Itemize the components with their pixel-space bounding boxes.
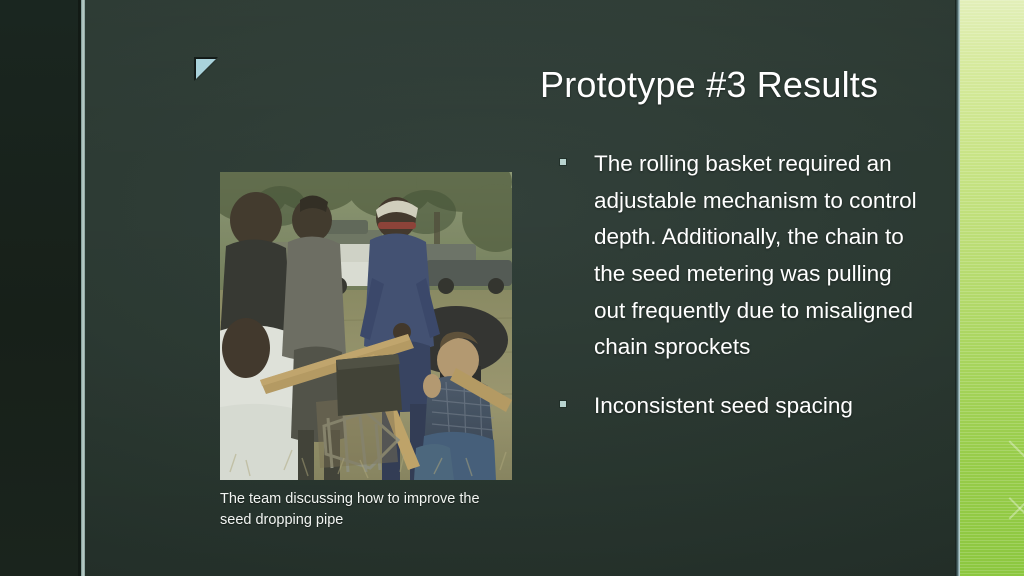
chevron-right-icon <box>970 440 1024 519</box>
slide-photo <box>220 172 512 480</box>
square-bullet-icon <box>560 159 566 165</box>
left-sidebar-band <box>0 0 82 576</box>
triangle-marker-icon <box>196 59 216 79</box>
page-title: Prototype #3 Results <box>540 64 960 105</box>
presentation-slide: Prototype #3 Results <box>0 0 1024 576</box>
square-bullet-icon <box>560 401 566 407</box>
photo-illustration <box>220 172 512 480</box>
bullet-list: The rolling basket required an adjustabl… <box>560 146 920 447</box>
photo-block: The team discussing how to improve the s… <box>220 172 512 531</box>
photo-caption: The team discussing how to improve the s… <box>220 489 512 531</box>
right-accent-strip <box>960 0 1024 576</box>
strip-texture <box>960 0 1024 576</box>
list-item-text: Inconsistent seed spacing <box>594 388 920 425</box>
list-item-text: The rolling basket required an adjustabl… <box>594 146 920 366</box>
list-item: Inconsistent seed spacing <box>560 388 920 425</box>
chevron-right-icon <box>960 497 1024 576</box>
list-item: The rolling basket required an adjustabl… <box>560 146 920 366</box>
